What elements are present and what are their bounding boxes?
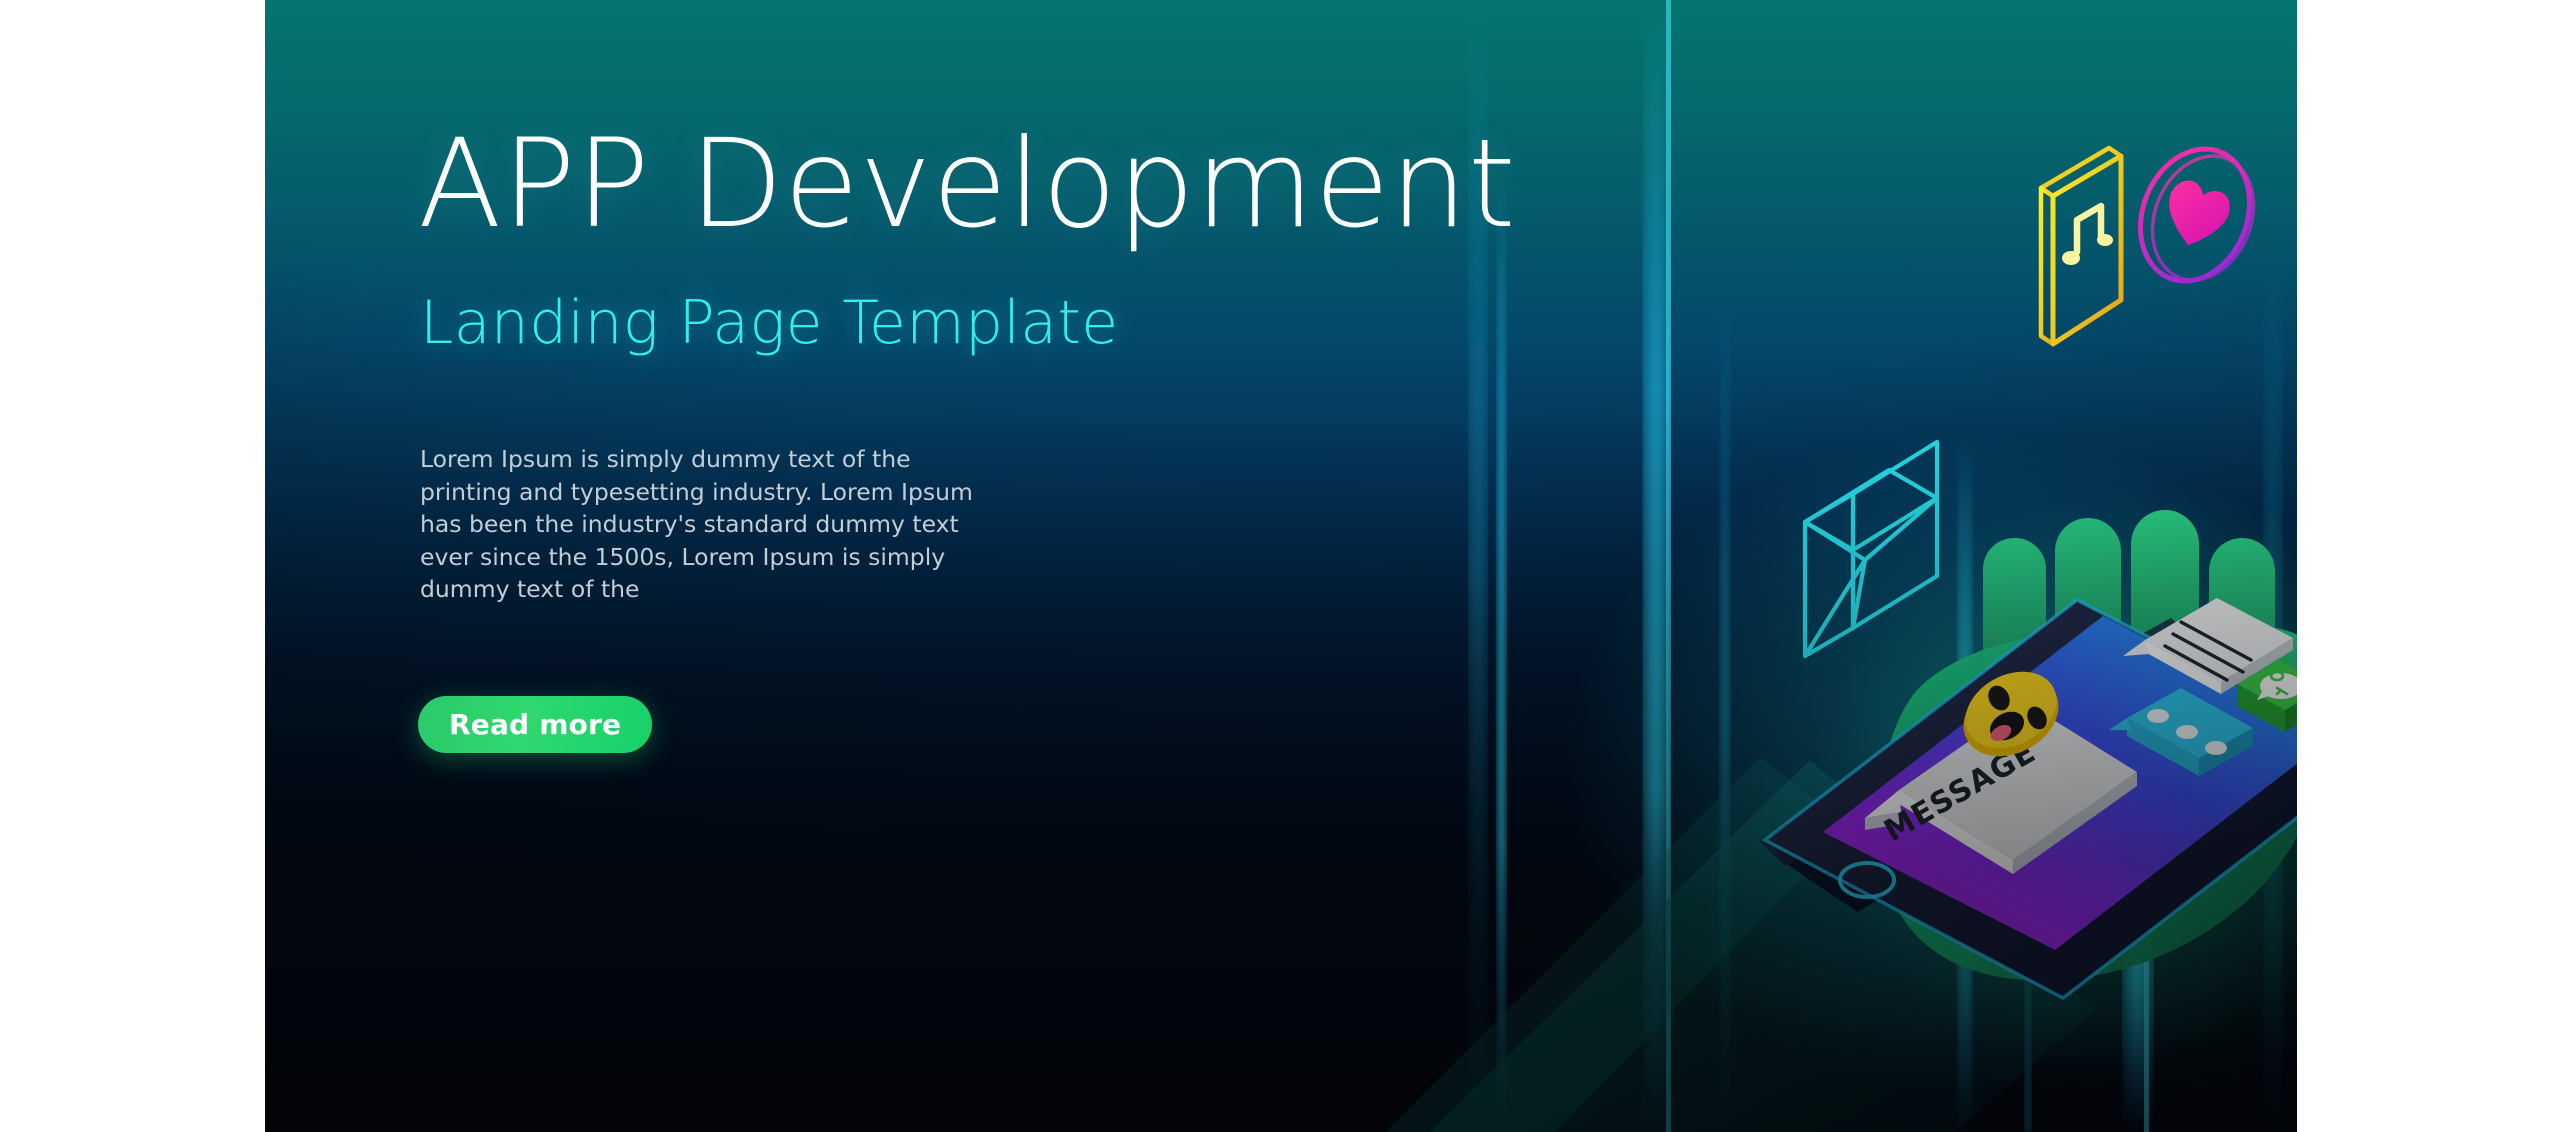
hero-description: Lorem Ipsum is simply dummy text of the …	[420, 443, 985, 606]
page-subtitle: Landing Page Template	[420, 290, 1118, 356]
heart-icon	[2121, 132, 2271, 297]
page-root: MESSAGE	[0, 0, 2560, 1132]
music-note-icon	[2041, 148, 2121, 344]
hero-banner: MESSAGE	[265, 0, 2297, 1132]
read-more-button[interactable]: Read more	[418, 696, 652, 753]
page-title: APP Development	[418, 120, 1516, 248]
